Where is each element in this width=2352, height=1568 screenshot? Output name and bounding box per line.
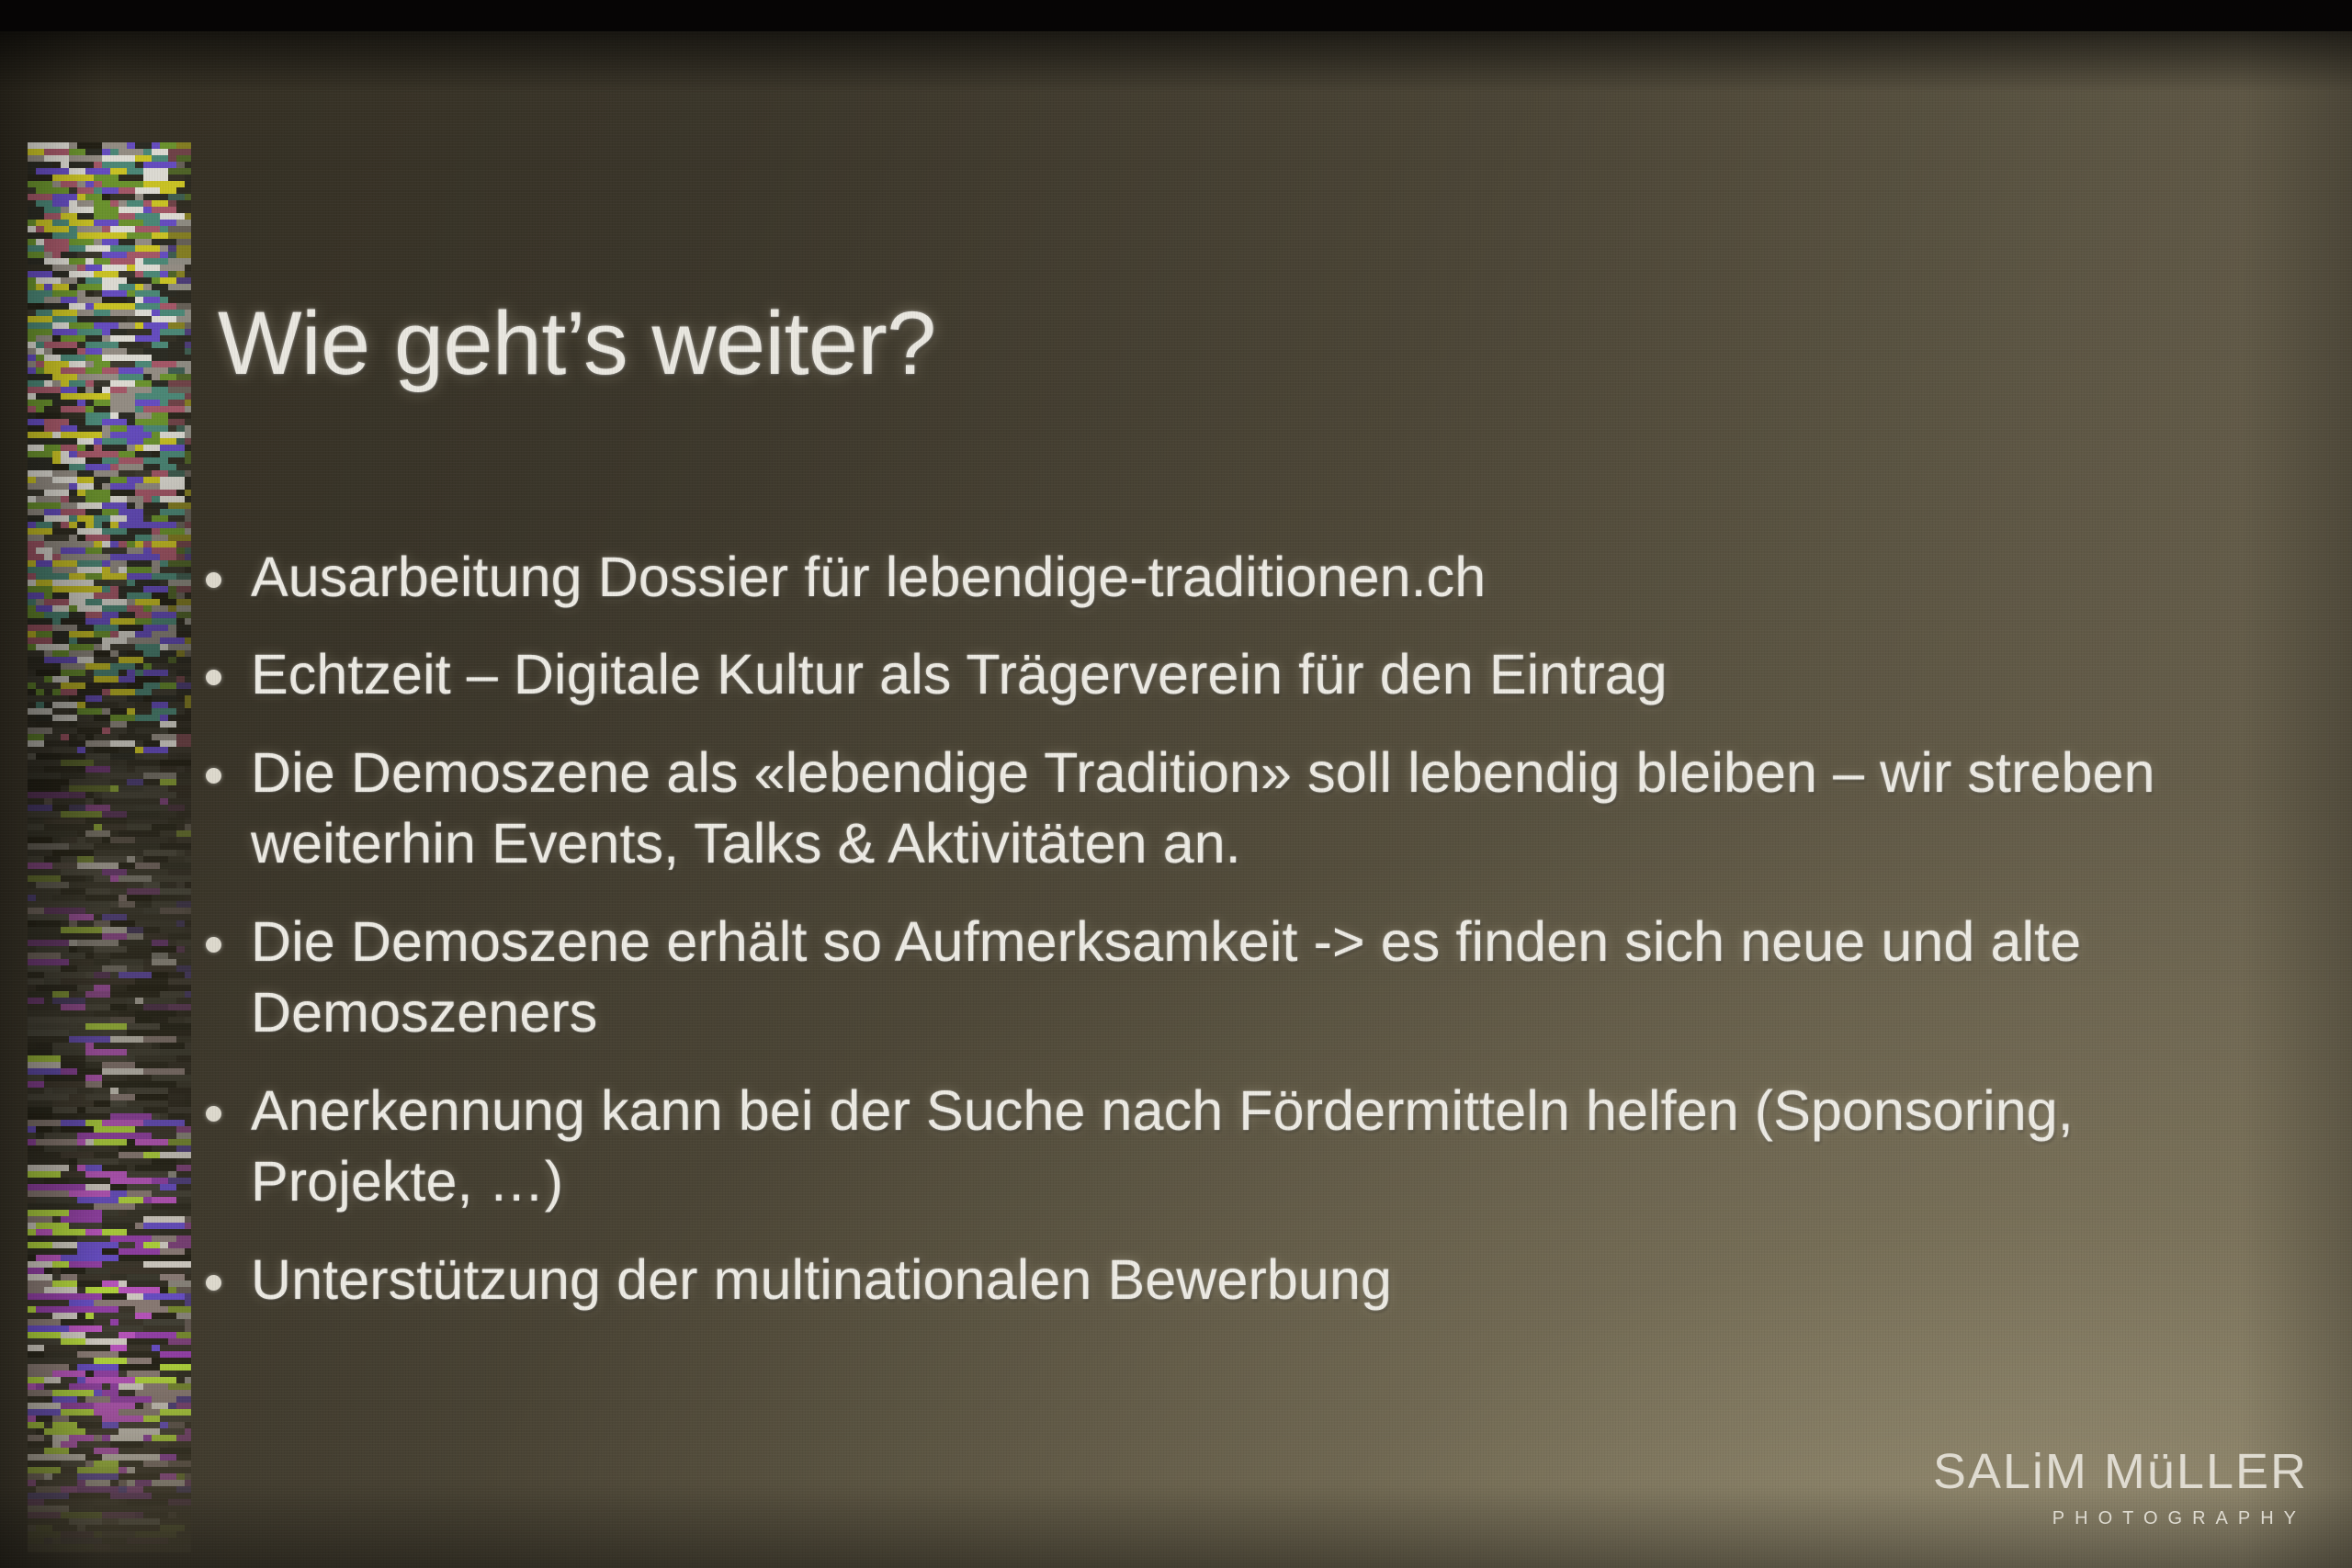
bullet-item-text: Echtzeit – Digitale Kultur als Trägerver… [251,639,2310,710]
bullet-list: Ausarbeitung Dossier für lebendige-tradi… [206,542,2310,1342]
photographer-watermark: SALiM MüLLER PHOTOGRAPHY [1933,1447,2308,1528]
bullet-dot-icon [206,768,221,784]
bullet-item: Ausarbeitung Dossier für lebendige-tradi… [206,542,2310,613]
slide-surface: Wie geht’s weiter? Ausarbeitung Dossier … [0,28,2352,1568]
bullet-item-text: Die Demoszene als «lebendige Tradition» … [251,738,2310,880]
bullet-item-text: Unterstützung der multinationalen Bewerb… [251,1245,2310,1315]
bullet-item-text: Die Demoszene erhält so Aufmerksamkeit -… [251,907,2310,1049]
watermark-name: SALiM MüLLER [1933,1447,2308,1496]
bullet-dot-icon [206,670,221,685]
slide-title: Wie geht’s weiter? [218,292,936,395]
bullet-item: Echtzeit – Digitale Kultur als Trägerver… [206,639,2310,710]
bullet-dot-icon [206,1275,221,1291]
bullet-dot-icon [206,572,221,588]
slide-content: Wie geht’s weiter? Ausarbeitung Dossier … [0,28,2352,1568]
bullet-item: Die Demoszene als «lebendige Tradition» … [206,738,2310,880]
bullet-item-text: Ausarbeitung Dossier für lebendige-tradi… [251,542,2310,613]
letterbox-band-top [0,0,2352,31]
bullet-item: Die Demoszene erhält so Aufmerksamkeit -… [206,907,2310,1049]
projected-slide-photo: Wie geht’s weiter? Ausarbeitung Dossier … [0,0,2352,1568]
bullet-dot-icon [206,937,221,953]
bullet-item: Unterstützung der multinationalen Bewerb… [206,1245,2310,1315]
bullet-item: Anerkennung kann bei der Suche nach Förd… [206,1076,2310,1218]
bullet-dot-icon [206,1106,221,1122]
bullet-item-text: Anerkennung kann bei der Suche nach Förd… [251,1076,2310,1218]
watermark-subtitle: PHOTOGRAPHY [1933,1509,2306,1528]
